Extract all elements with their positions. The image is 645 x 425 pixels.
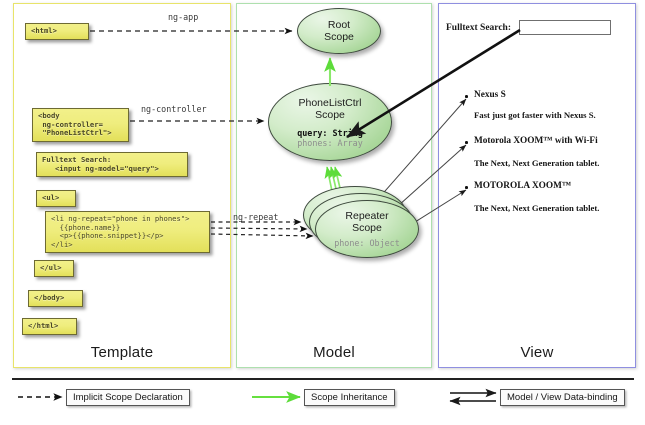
scope-repeater-title: Repeater Scope [345,210,388,234]
phone-name: Motorola XOOM™ with Wi-Fi [474,136,598,146]
legend-item-scope-inheritance: Scope Inheritance [304,389,395,406]
legend-item-implicit-scope-declaration: Implicit Scope Declaration [66,389,190,406]
phone-snippet: The Next, Next Generation tablet. [474,158,599,168]
legend-arrow-databinding [450,393,496,401]
edge-label-ng-app: ng-app [168,12,198,22]
code-box-body-ng-controller: <body ng-controller= "PhoneListCtrl"> [32,108,129,142]
edge-label-ng-repeat: ng-repeat [233,212,278,222]
scope-phonelistctrl: PhoneListCtrl Scope query: String phones… [268,83,392,161]
code-box-li-ng-repeat: <li ng-repeat="phone in phones"> {{phone… [45,211,210,253]
phone-snippet: The Next, Next Generation tablet. [474,203,599,213]
view-search-label: Fulltext Search: [446,23,511,33]
scope-phonelistctrl-title: PhoneListCtrl Scope [298,97,361,121]
panel-template: Template [13,3,231,368]
scope-root: Root Scope [297,8,381,54]
code-box-body-close-tag: </body> [28,290,83,307]
scope-phonelistctrl-attr-query: query: String [297,128,363,138]
scope-phonelistctrl-attr-phones: phones: Array [297,138,363,148]
phone-name: Nexus S [474,90,506,100]
code-box-ul-open-tag: <ul> [36,190,76,207]
phone-name: MOTOROLA XOOM™ [474,181,571,191]
list-bullet-icon [465,95,468,98]
list-bullet-icon [465,141,468,144]
code-box-ul-close-tag: </ul> [34,260,74,277]
legend-divider [12,378,634,380]
search-input[interactable] [519,20,611,35]
panel-model: Model [236,3,432,368]
panel-view-label: View [439,344,635,361]
code-box-html-open-tag: <html> [25,23,89,40]
diagram-canvas: Template Model View <html> <body ng-cont… [0,0,645,425]
legend-item-model-view-data-binding: Model / View Data-binding [500,389,625,406]
code-box-fulltext-search-input: Fulltext Search: <input ng-model="query"… [36,152,188,177]
phone-snippet: Fast just got faster with Nexus S. [474,110,596,120]
panel-template-label: Template [14,344,230,361]
scope-repeater-attr-phone: phone: Object [334,238,400,248]
scope-repeater: Repeater Scope phone: Object [315,200,419,258]
code-box-html-close-tag: </html> [22,318,77,335]
scope-root-title: Root Scope [324,19,354,43]
panel-model-label: Model [237,344,431,361]
edge-label-ng-controller: ng-controller [141,104,207,114]
list-bullet-icon [465,186,468,189]
